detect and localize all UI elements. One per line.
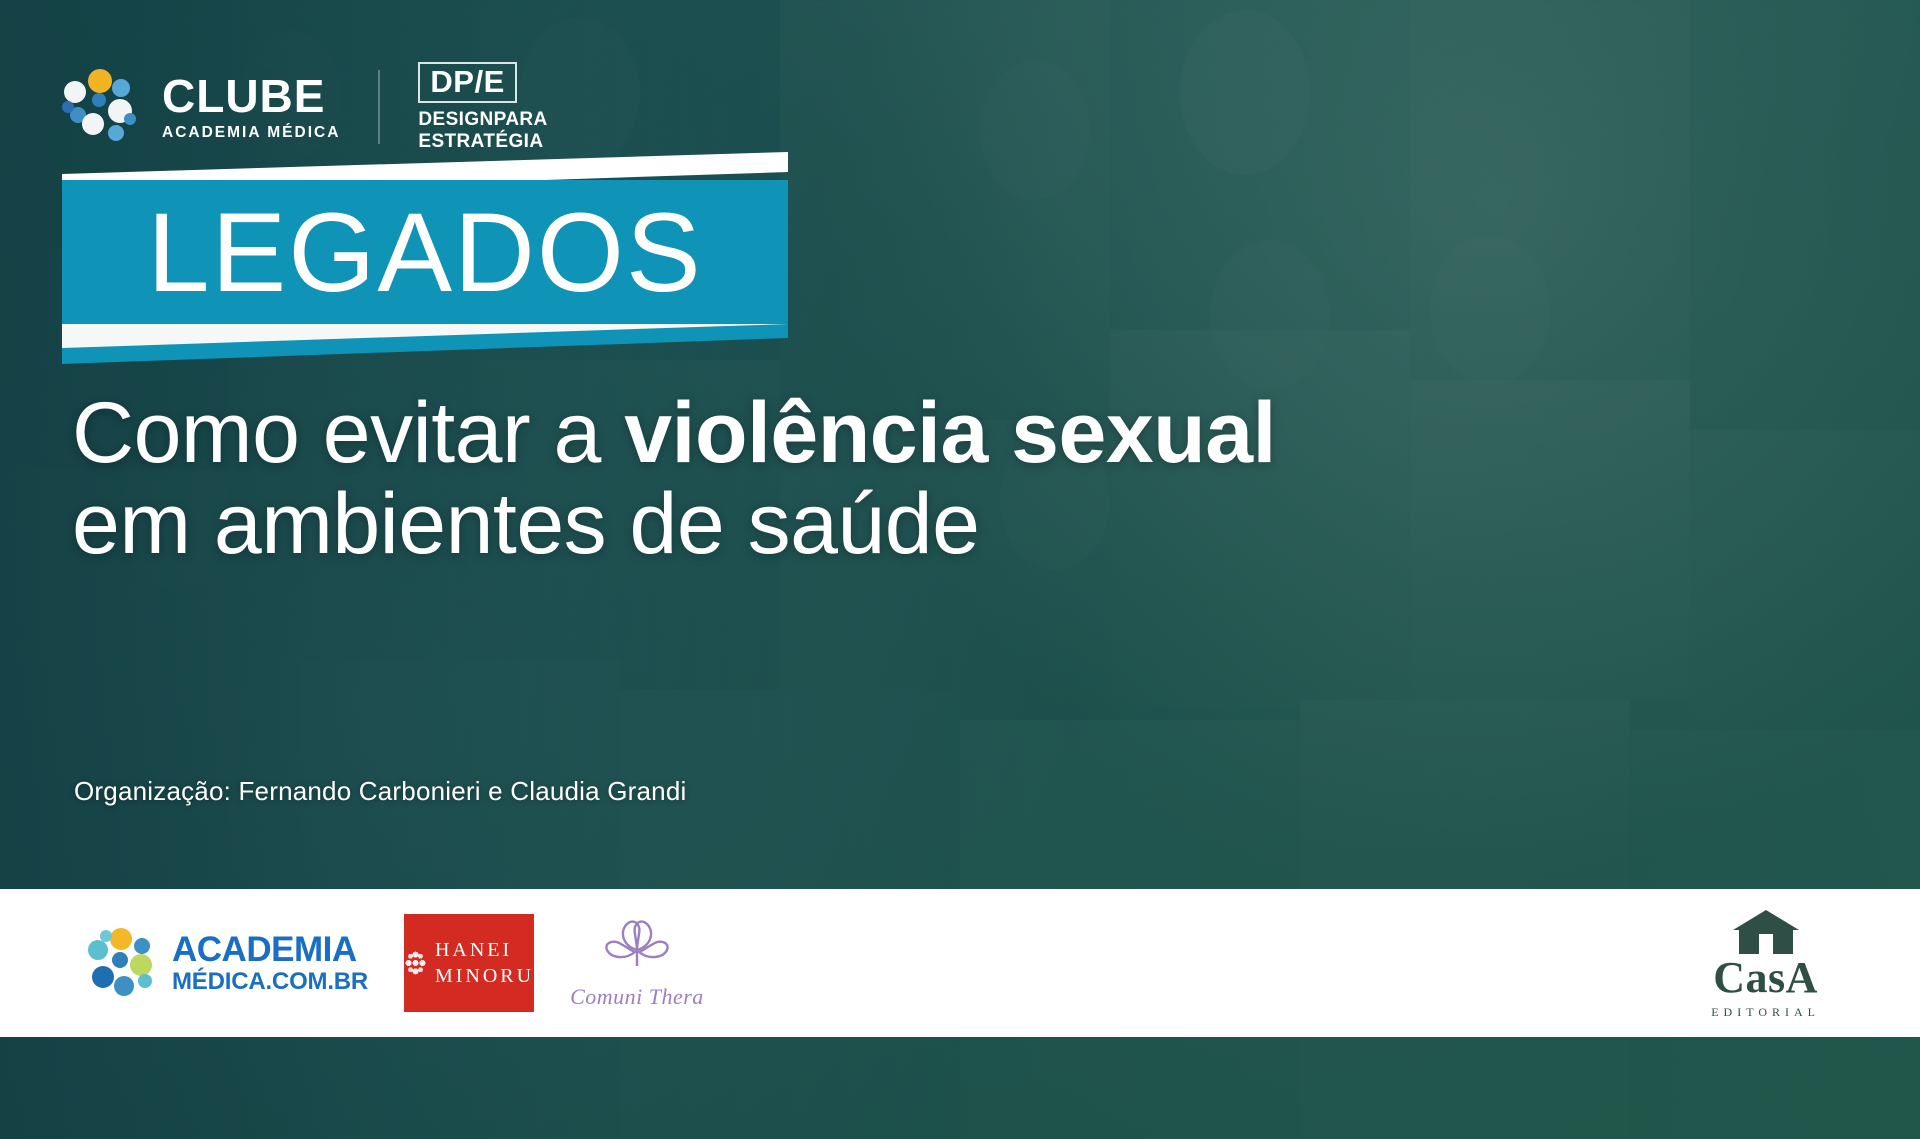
sponsor-logos-left: ACADEMIA MÉDICA.COM.BR HANEI MINORU: [86, 914, 704, 1012]
clube-wordmark: CLUBE ACADEMIA MÉDICA: [162, 73, 340, 141]
academia-medica-line1: ACADEMIA: [172, 932, 368, 967]
logo-divider: [378, 70, 380, 144]
presentation-slide: CLUBE ACADEMIA MÉDICA DP/E DESIGNPARA ES…: [0, 0, 1920, 1139]
dpe-line1: DESIGNPARA: [418, 110, 547, 129]
organization-credit: Organização: Fernando Carbonieri e Claud…: [74, 776, 686, 807]
casa-editorial-logo[interactable]: CasA EDITORIAL: [1711, 908, 1820, 1018]
casa-word: CasA: [1713, 956, 1818, 1000]
comuni-thera-logo[interactable]: Comuni Thera: [570, 916, 704, 1010]
headline-line1-pre: Como evitar a: [72, 385, 624, 481]
clube-academia-medica-logo: CLUBE ACADEMIA MÉDICA: [62, 67, 340, 147]
academia-medica-network-icon: [86, 928, 160, 998]
academia-medica-logo[interactable]: ACADEMIA MÉDICA.COM.BR: [86, 928, 368, 998]
legados-label: LEGADOS: [62, 180, 788, 325]
casa-editorial-sub: EDITORIAL: [1711, 1006, 1820, 1018]
house-roof-icon: [1731, 908, 1801, 956]
academia-medica-wordmark: ACADEMIA MÉDICA.COM.BR: [172, 932, 368, 994]
banner-band: LEGADOS: [62, 180, 788, 325]
headline-line1-bold: violência sexual: [624, 385, 1276, 481]
header-logo-row: CLUBE ACADEMIA MÉDICA DP/E DESIGNPARA ES…: [62, 62, 548, 151]
academia-medica-line2: MÉDICA.COM.BR: [172, 970, 368, 994]
headline-line2: em ambientes de saúde: [72, 479, 1632, 570]
slide-headline: Como evitar a violência sexual em ambien…: [72, 388, 1632, 570]
sponsor-logos-right: CasA EDITORIAL: [1711, 908, 1820, 1018]
dpe-logo: DP/E DESIGNPARA ESTRATÉGIA: [418, 62, 547, 151]
legados-banner: LEGADOS: [0, 152, 1000, 402]
hanei-minoru-logo[interactable]: HANEI MINORU: [404, 914, 534, 1012]
dpe-line2: ESTRATÉGIA: [418, 132, 547, 151]
comuni-thera-flower-icon: [589, 916, 685, 982]
hanei-diamond-icon: [404, 950, 427, 976]
hanei-minoru-wordmark: HANEI MINORU: [435, 940, 534, 986]
dpe-box-label: DP/E: [418, 62, 516, 103]
sponsor-footer-bar: ACADEMIA MÉDICA.COM.BR HANEI MINORU: [0, 889, 1920, 1037]
hanei-line2: MINORU: [435, 966, 534, 986]
comuni-thera-script: Comuni Thera: [570, 984, 704, 1010]
clube-subtitle: ACADEMIA MÉDICA: [162, 125, 340, 141]
hanei-line1: HANEI: [435, 940, 534, 960]
clube-title: CLUBE: [162, 73, 340, 119]
network-nodes-icon: [62, 67, 148, 147]
